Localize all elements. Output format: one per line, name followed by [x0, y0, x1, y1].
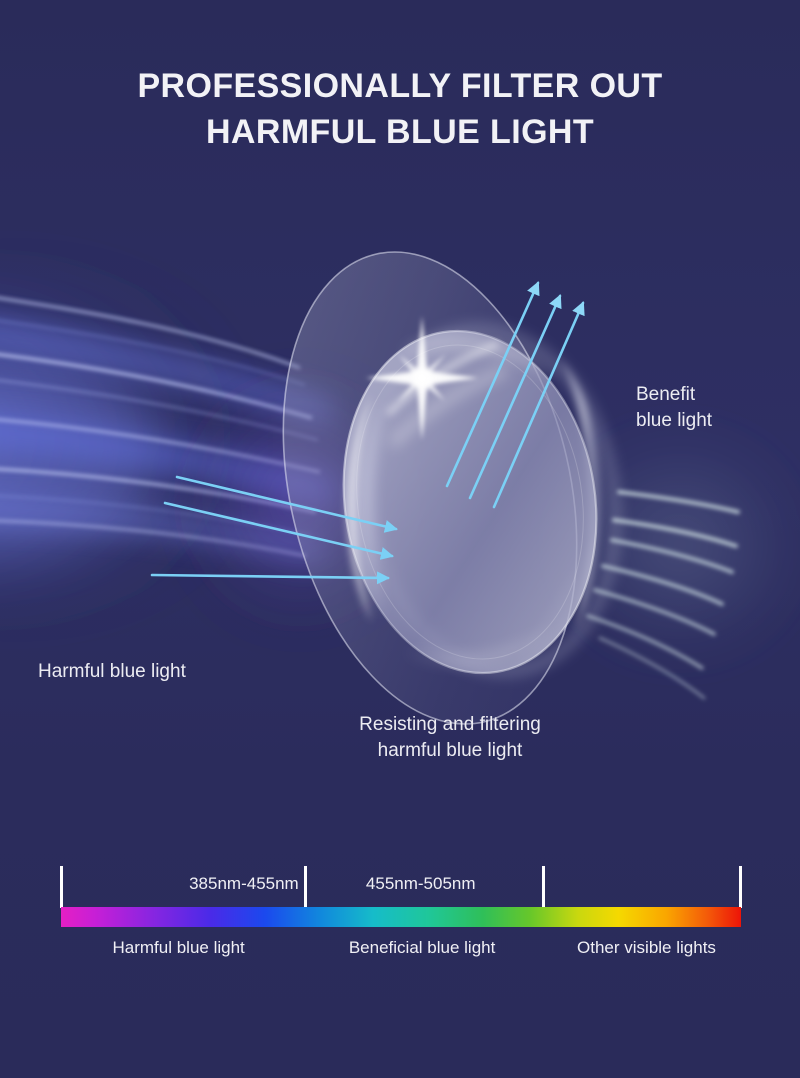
legend-tick-2 — [542, 866, 545, 908]
legend-tick-0 — [60, 866, 63, 908]
spectrum-legend: 385nm-455nm 455nm-505nm Harmful blue lig… — [0, 858, 800, 978]
label-benefit-blue-light: Benefit blue light — [636, 382, 712, 434]
legend-tick-1 — [304, 866, 307, 908]
legend-range-label: 455nm-505nm — [366, 874, 476, 894]
legend-tick-3 — [739, 866, 742, 908]
legend-category-label: Other visible lights — [577, 938, 716, 958]
poster-canvas: PROFESSIONALLY FILTER OUT HARMFUL BLUE L… — [0, 0, 800, 1078]
legend-category-label: Beneficial blue light — [349, 938, 495, 958]
label-harmful-blue-light: Harmful blue light — [38, 659, 186, 685]
legend-range-label: 385nm-455nm — [189, 874, 299, 894]
label-resisting-filtering: Resisting and filtering harmful blue lig… — [300, 712, 600, 764]
spectrum-bar — [61, 907, 741, 927]
page-title: PROFESSIONALLY FILTER OUT HARMFUL BLUE L… — [0, 63, 800, 155]
legend-category-label: Harmful blue light — [112, 938, 244, 958]
